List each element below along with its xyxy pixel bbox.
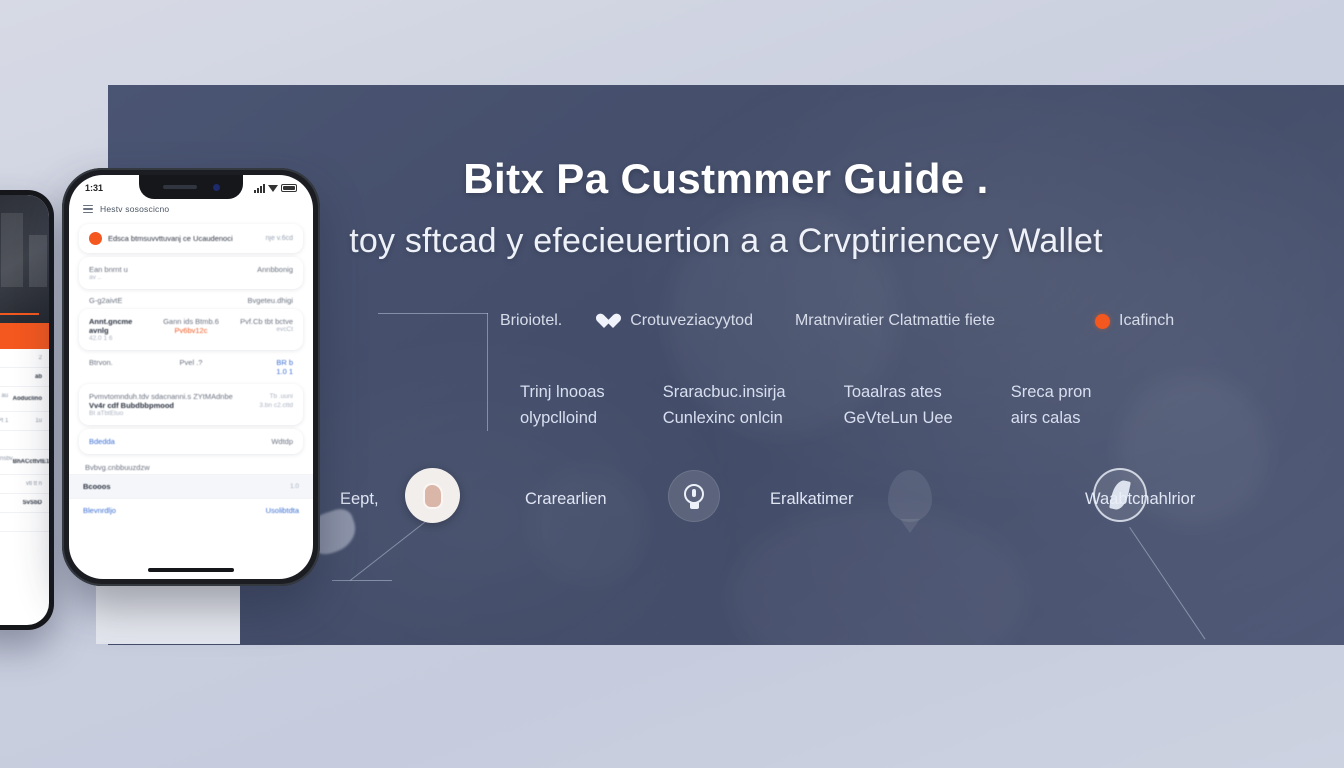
list-item[interactable]: nmngru. ab: [0, 368, 49, 387]
feature-text-line2: Cunlexinc onlcin: [663, 406, 786, 432]
list-item[interactable]: t dtB: [0, 513, 49, 532]
row-right: Aoduclino: [13, 396, 42, 402]
row-left: bhcoubic. au uadlig: [0, 393, 13, 405]
detail-left-label: Ean bnrnt u: [89, 265, 128, 274]
totals-row: Btrvon. Pvel .? BR b 1.0 1: [89, 358, 293, 376]
feature-text-line1: Toaalras ates: [844, 380, 953, 406]
phone-stand: [96, 586, 240, 644]
row-right: ab: [35, 374, 42, 380]
transaction-card[interactable]: Edsca btmsuvvttuvanj ce Ucaudenoci nje v…: [79, 224, 303, 253]
hamburger-icon[interactable]: [83, 205, 93, 213]
info-line-2: Vv4r cdf Bubdbbpmood: [89, 401, 174, 410]
badge-label: Crarearlien: [525, 490, 607, 509]
home-indicator[interactable]: [148, 568, 234, 572]
decorative-blob: [528, 465, 648, 585]
transaction-value: nje v.6cd: [266, 235, 294, 242]
connector-line: [487, 313, 488, 431]
stat-value-3: evcCt: [228, 326, 293, 333]
list-item[interactable]: bhcoubic. au uadlig Aoduclino: [0, 387, 49, 412]
status-time: 1:31: [85, 183, 103, 193]
stats-card[interactable]: Annt.gncme avnlg 42.0 1 6 Gann ids Btmb.…: [79, 309, 303, 350]
row-left: uGGc2c:Pt 1: [0, 418, 8, 424]
feature-chip-label: Brioiotel.: [500, 312, 562, 330]
status-bar: 1:31: [69, 175, 313, 201]
info-line-1: Pvmvtomnduh.tdv sdacnanni.s ZYtMAdnbe: [89, 392, 233, 401]
list-item[interactable]: uGGc2c:Pt 1 1u: [0, 412, 49, 431]
row-left: Tbuvnsocnsbv 1: [0, 456, 13, 468]
orange-accent-bar: [0, 323, 49, 349]
feature-chip-row: Brioiotel. Crotuveziacyytod Mratnviratie…: [500, 312, 1320, 330]
list-row-value: 1.0: [290, 483, 299, 490]
feature-text-row: Trinj lnooas olypclloind Sraracbuc.insir…: [520, 380, 1240, 431]
connector-line: [378, 313, 488, 314]
battery-icon: [281, 184, 297, 192]
row-right: BhACcttvtE11fE: [13, 459, 49, 465]
primary-phone-screen: 1:31 Hestv sososcicno Edsca btmsuvvttuva…: [69, 175, 313, 579]
lightbulb-icon[interactable]: [668, 470, 720, 522]
list-item[interactable]: Bbdu 2: [0, 349, 49, 368]
wifi-icon: [268, 185, 278, 192]
secondary-phone-device: Bbdu 2 nmngru. ab bhcoubic. au uadlig Ao…: [0, 190, 54, 630]
table-row[interactable]: Bcooos 1.0: [69, 474, 313, 498]
feature-chip-2[interactable]: Mratnviratier Clatmattie fiete: [795, 312, 995, 330]
lightbulb-glyph-icon: [684, 484, 704, 509]
stat-value-2: Pv6bv12c: [159, 326, 224, 335]
info-card[interactable]: Pvmvtomnduh.tdv sdacnanni.s ZYtMAdnbe Tb…: [79, 384, 303, 425]
stat-label-3: Pvf.Cb tbt bctve: [228, 317, 293, 326]
detail-sub-label: av ..: [89, 274, 293, 281]
stat-value-1: 42.0 1 6: [89, 335, 154, 342]
list-row-label: Bcooos: [83, 482, 111, 491]
badge-item-2[interactable]: Eralkatimer: [770, 490, 853, 509]
decorative-blob: [728, 505, 1028, 645]
feature-chip-label: Mratnviratier Clatmattie fiete: [795, 312, 995, 330]
feather-glyph-icon: [1109, 479, 1131, 512]
total-left: Btrvon.: [89, 358, 154, 376]
row-right: vtl tt n: [26, 481, 42, 487]
link-card[interactable]: Bdedda Wdtdp: [79, 429, 303, 454]
feature-text-3: Sreca pron airs calas: [1011, 380, 1092, 431]
feature-text-line2: olypclloind: [520, 406, 605, 432]
person-glyph-icon: [423, 483, 443, 509]
feature-chip-1[interactable]: Crotuveziacyytod: [604, 312, 753, 330]
stat-label-1: Annt.gncme avnlg: [89, 317, 154, 335]
map-pin-icon: [888, 470, 932, 522]
row-right: 1u: [35, 418, 42, 424]
feature-chip-3[interactable]: Icafinch: [1095, 312, 1174, 330]
app-title: Hestv sososcicno: [100, 204, 169, 214]
feature-text-line2: GeVteLun Uee: [844, 406, 953, 432]
link-right: Wdtdp: [271, 437, 293, 446]
feature-text-2: Toaalras ates GeVteLun Uee: [844, 380, 953, 431]
info-right-1: Tb .uuni: [270, 393, 294, 400]
badge-item-0[interactable]: Eept,: [340, 490, 379, 509]
orange-dot-icon: [1095, 314, 1110, 329]
signal-icon: [254, 184, 265, 193]
list-header: Bvbvg.cnbbuuzdzw: [85, 463, 297, 472]
feature-chip-0[interactable]: Brioiotel.: [500, 312, 562, 330]
section-right: Bvgeteu.dhigi: [248, 296, 293, 305]
app-header: Hestv sososcicno: [69, 201, 313, 220]
feature-chip-label: Crotuveziacyytod: [630, 312, 753, 330]
connector-line: [332, 580, 392, 581]
detail-card[interactable]: Ean bnrnt u Annbbonig av ..: [79, 257, 303, 289]
coin-dot-icon: [89, 232, 102, 245]
heart-icon: [604, 313, 621, 330]
primary-phone-device: 1:31 Hestv sososcicno Edsca btmsuvvttuva…: [62, 168, 320, 586]
feature-text-1: Sraracbuc.insirja Cunlexinc onlcin: [663, 380, 786, 431]
badge-label: Eralkatimer: [770, 490, 853, 509]
badge-label: Eept,: [340, 490, 379, 509]
feature-text-line2: airs calas: [1011, 406, 1092, 432]
section-left: G-g2aivtE: [89, 296, 122, 305]
feature-text-line1: Sreca pron: [1011, 380, 1092, 406]
feature-text-line1: Sraracbuc.insirja: [663, 380, 786, 406]
feature-text-line1: Trinj lnooas: [520, 380, 605, 406]
list-item[interactable]: SvSbD: [0, 494, 49, 513]
stat-label-2: Gann ids Btmb.6: [159, 317, 224, 326]
feature-chip-label: Icafinch: [1119, 312, 1174, 330]
feature-text-0: Trinj lnooas olypclloind: [520, 380, 605, 431]
feather-icon[interactable]: [1093, 468, 1147, 522]
detail-right-label: Annbbonig: [257, 265, 293, 274]
list-row-label: Blevnrdljo: [83, 506, 116, 515]
total-right-top: BR b: [228, 358, 293, 367]
row-right: SvSbD: [23, 500, 42, 506]
total-right-bottom: 1.0 1: [228, 367, 293, 376]
list-row-value: Usolibtdta: [266, 506, 299, 515]
badge-item-1[interactable]: Crarearlien: [525, 490, 607, 509]
secondary-phone-screen: Bbdu 2 nmngru. ab bhcoubic. au uadlig Ao…: [0, 195, 49, 625]
list-item[interactable]: ovtb vtl tt n: [0, 475, 49, 494]
info-line-3: Bt aTbtEtuo: [89, 410, 293, 417]
person-badge-icon[interactable]: [405, 468, 460, 523]
transaction-name: Edsca btmsuvvttuvanj ce Ucaudenoci: [108, 234, 260, 243]
info-right-2: 3.bn c2.cttd: [259, 402, 293, 409]
list-item[interactable]: 3L 5: [0, 431, 49, 450]
table-row[interactable]: Blevnrdljo Usolibtdta: [69, 498, 313, 522]
section-row: G-g2aivtE Bvgeteu.dhigi: [89, 296, 293, 305]
list-item[interactable]: Tbuvnsocnsbv 1 BhACcttvtE11fE: [0, 450, 49, 475]
link-left[interactable]: Bdedda: [89, 437, 115, 446]
total-mid: Pvel .?: [159, 358, 224, 376]
promo-image: [0, 195, 49, 323]
row-right: 2: [39, 355, 42, 361]
